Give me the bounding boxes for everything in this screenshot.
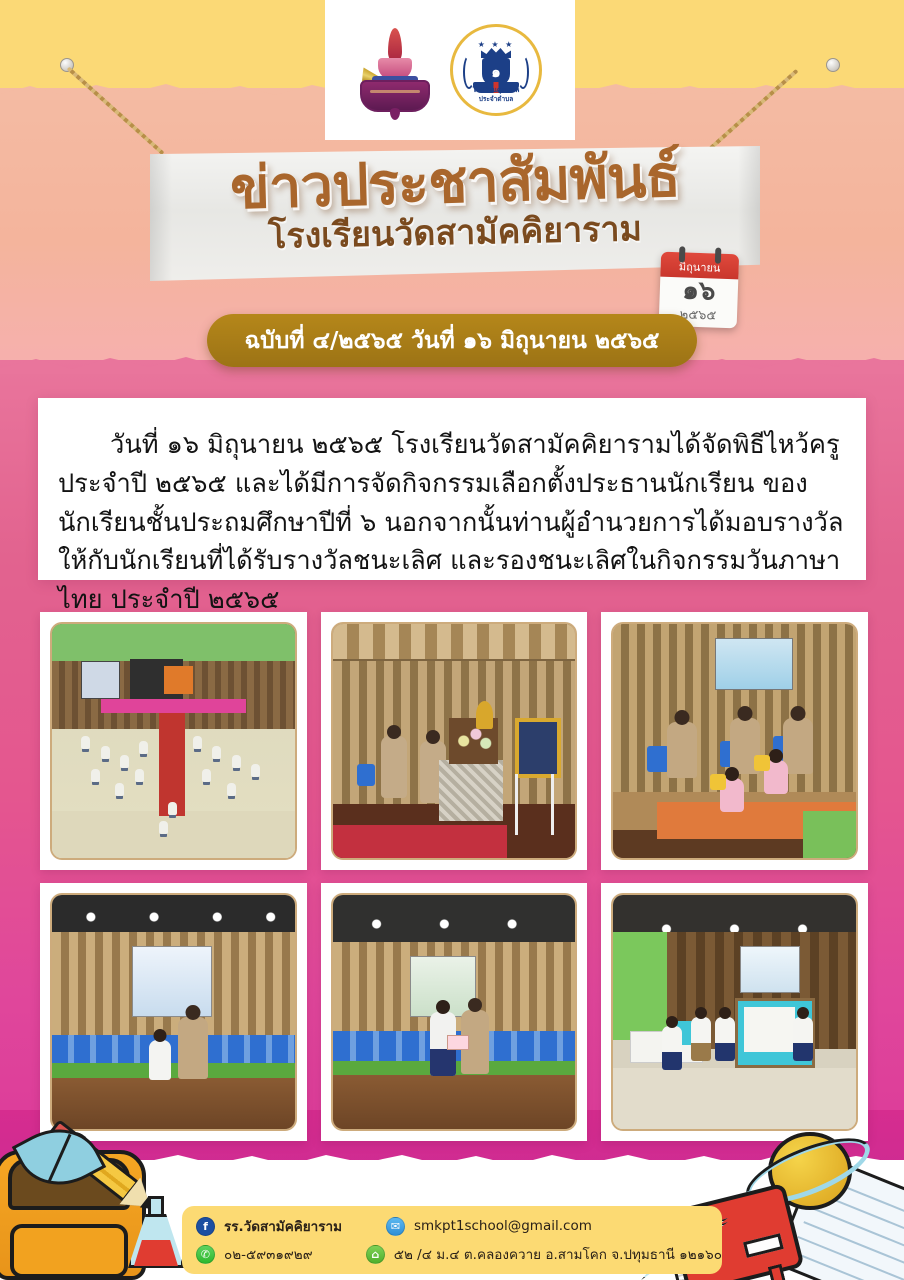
student-figure [662,1026,682,1070]
hall-banner [164,666,193,694]
seated-student [232,755,241,768]
emblem-drop-icon [390,108,400,120]
phone-label: ๐๒-๕๙๓๑๙๒๙ [224,1243,313,1265]
paper-line [797,1236,904,1280]
blue-chair [647,746,669,772]
photo-grid [40,612,868,1141]
certificate [447,1035,469,1050]
rope-line-left [67,67,165,156]
crown-icon [481,48,511,58]
blue-chair [357,764,375,786]
teacher-figure [667,722,697,778]
badge-caption-line2: ประจำตำบล [453,95,539,104]
seated-student [193,736,202,749]
home-icon: ⌂ [366,1245,385,1264]
mail-icon: ✉ [386,1217,405,1236]
easel-stand [515,774,554,835]
student-figure [793,1017,813,1061]
rope-left [60,58,170,168]
seated-student [81,736,90,749]
photo-director-with-young-student[interactable] [40,883,307,1141]
hall-stage-skirt [101,699,247,713]
contact-facebook[interactable]: f รร.วัดสามัคคิยาราม [196,1215,386,1237]
director-figure [178,1017,208,1079]
blue-chair-row [52,1035,295,1063]
announcement-poster: ★ ★ ★ ๑ โรงเรียนคุณภาพ ประจำตำบล ข่าวประ… [0,0,904,1280]
scene-assembly-hall [52,624,295,858]
issue-number-badge: ฉบับที่ ๔/๒๕๖๕ วันที่ ๑๖ มิถุนายน ๒๕๖๕ [207,314,697,367]
seated-student [227,783,236,796]
photo-inner-5 [331,893,578,1131]
ceiling-lights [333,918,576,930]
seated-student [91,769,100,782]
hall-upper-wall [52,624,295,661]
projection-screen [740,946,801,993]
flower-tray [710,774,726,790]
photo-student-election-activity[interactable] [601,883,868,1141]
scene-portrait-ceremony [333,624,576,858]
projection-screen [132,946,212,1016]
school-quality-badge-logo: ★ ★ ★ ๑ โรงเรียนคุณภาพ ประจำตำบล [450,24,542,116]
scene-award-young-student [52,895,295,1129]
contact-email[interactable]: ✉ smkpt1school@gmail.com [386,1217,592,1236]
seated-student [202,769,211,782]
seated-student [251,764,260,777]
photo-inner-2 [331,622,578,860]
photo-inner-3 [611,622,858,860]
hall-red-carpet [159,713,186,816]
hall-screen [81,661,120,698]
tally-paper [744,1007,796,1052]
badge-caption: โรงเรียนคุณภาพ ประจำตำบล [453,86,539,104]
seated-student [168,802,177,815]
ministry-emblem-logo [358,22,432,118]
curtain-valance [333,624,576,661]
ministry-emblem-icon [358,22,432,118]
ceiling-lights [52,911,295,923]
seated-student [212,746,221,759]
seated-student [139,741,148,754]
rope-knob-right [826,58,840,72]
poster-main-title: ข่าวประชาสัมพันธ์ [159,144,750,221]
facebook-label: รร.วัดสามัคคิยาราม [224,1215,342,1237]
address-label: ๕๒ /๔ ม.๔ ต.คลองควาย อ.สามโคก จ.ปทุมธานี… [394,1243,722,1265]
seated-student [120,755,129,768]
badge-caption-line1: โรงเรียนคุณภาพ [453,86,539,95]
flask-icon [122,1196,190,1272]
scene-wai-kru-offering [613,624,856,858]
seated-student [101,746,110,759]
contact-card: f รร.วัดสามัคคิยาราม ✉ smkpt1school@gmai… [182,1206,722,1274]
red-carpet [333,825,508,858]
scene-student-election [613,895,856,1129]
offering-table [439,760,502,821]
teacher-figure [381,736,407,798]
royal-portrait-frame [515,718,561,779]
photo-students-offering-flower-trays[interactable] [601,612,868,870]
photo-teachers-offering-portrait[interactable] [321,612,588,870]
facebook-icon: f [196,1217,215,1236]
student-figure [715,1017,735,1061]
teacher-figure [783,718,813,774]
photo-inner-1 [50,622,297,860]
green-wall [613,932,666,1040]
line-phone-icon: ✆ [196,1245,215,1264]
contact-address: ⌂ ๕๒ /๔ ม.๔ ต.คลองควาย อ.สามโคก จ.ปทุมธา… [366,1243,722,1265]
scene-certificate-handover [333,895,576,1129]
contact-phone[interactable]: ✆ ๐๒-๕๙๓๑๙๒๙ [196,1243,366,1265]
school-quality-badge-icon: ★ ★ ★ ๑ โรงเรียนคุณภาพ ประจำตำบล [450,24,542,116]
calendar-ring-right [715,248,722,264]
photo-inner-4 [50,893,297,1131]
green-turf [52,1063,295,1077]
seated-student [115,783,124,796]
young-student-figure [149,1040,171,1080]
photo-student-receiving-award[interactable] [321,883,588,1141]
logo-panel: ★ ★ ★ ๑ โรงเรียนคุณภาพ ประจำตำบล [325,0,575,140]
seated-student [159,821,168,834]
badge-stars: ★ ★ ★ [453,40,539,49]
photo-inner-6 [611,893,858,1131]
contact-row-1: f รร.วัดสามัคคิยาราม ✉ smkpt1school@gmai… [196,1212,722,1240]
green-turf [803,811,856,858]
hall-floor [52,811,295,858]
student-figure [691,1017,711,1061]
email-label: smkpt1school@gmail.com [414,1218,592,1234]
golden-ornament [476,701,493,729]
projection-screen [715,638,793,689]
seated-student [135,769,144,782]
header-banner-title: ข่าวประชาสัมพันธ์ โรงเรียนวัดสามัคคิยารา… [160,152,750,252]
calendar-ring-left [679,246,686,262]
photo-assembly-hall-students[interactable] [40,612,307,870]
flower-tray [754,755,770,771]
announcement-body-text: วันที่ ๑๖ มิถุนายน ๒๕๖๕ โรงเรียนวัดสามัค… [58,426,848,620]
contact-row-2: ✆ ๐๒-๕๙๓๑๙๒๙ ⌂ ๕๒ /๔ ม.๔ ต.คลองควาย อ.สา… [196,1240,722,1268]
wooden-floor [333,1075,576,1129]
